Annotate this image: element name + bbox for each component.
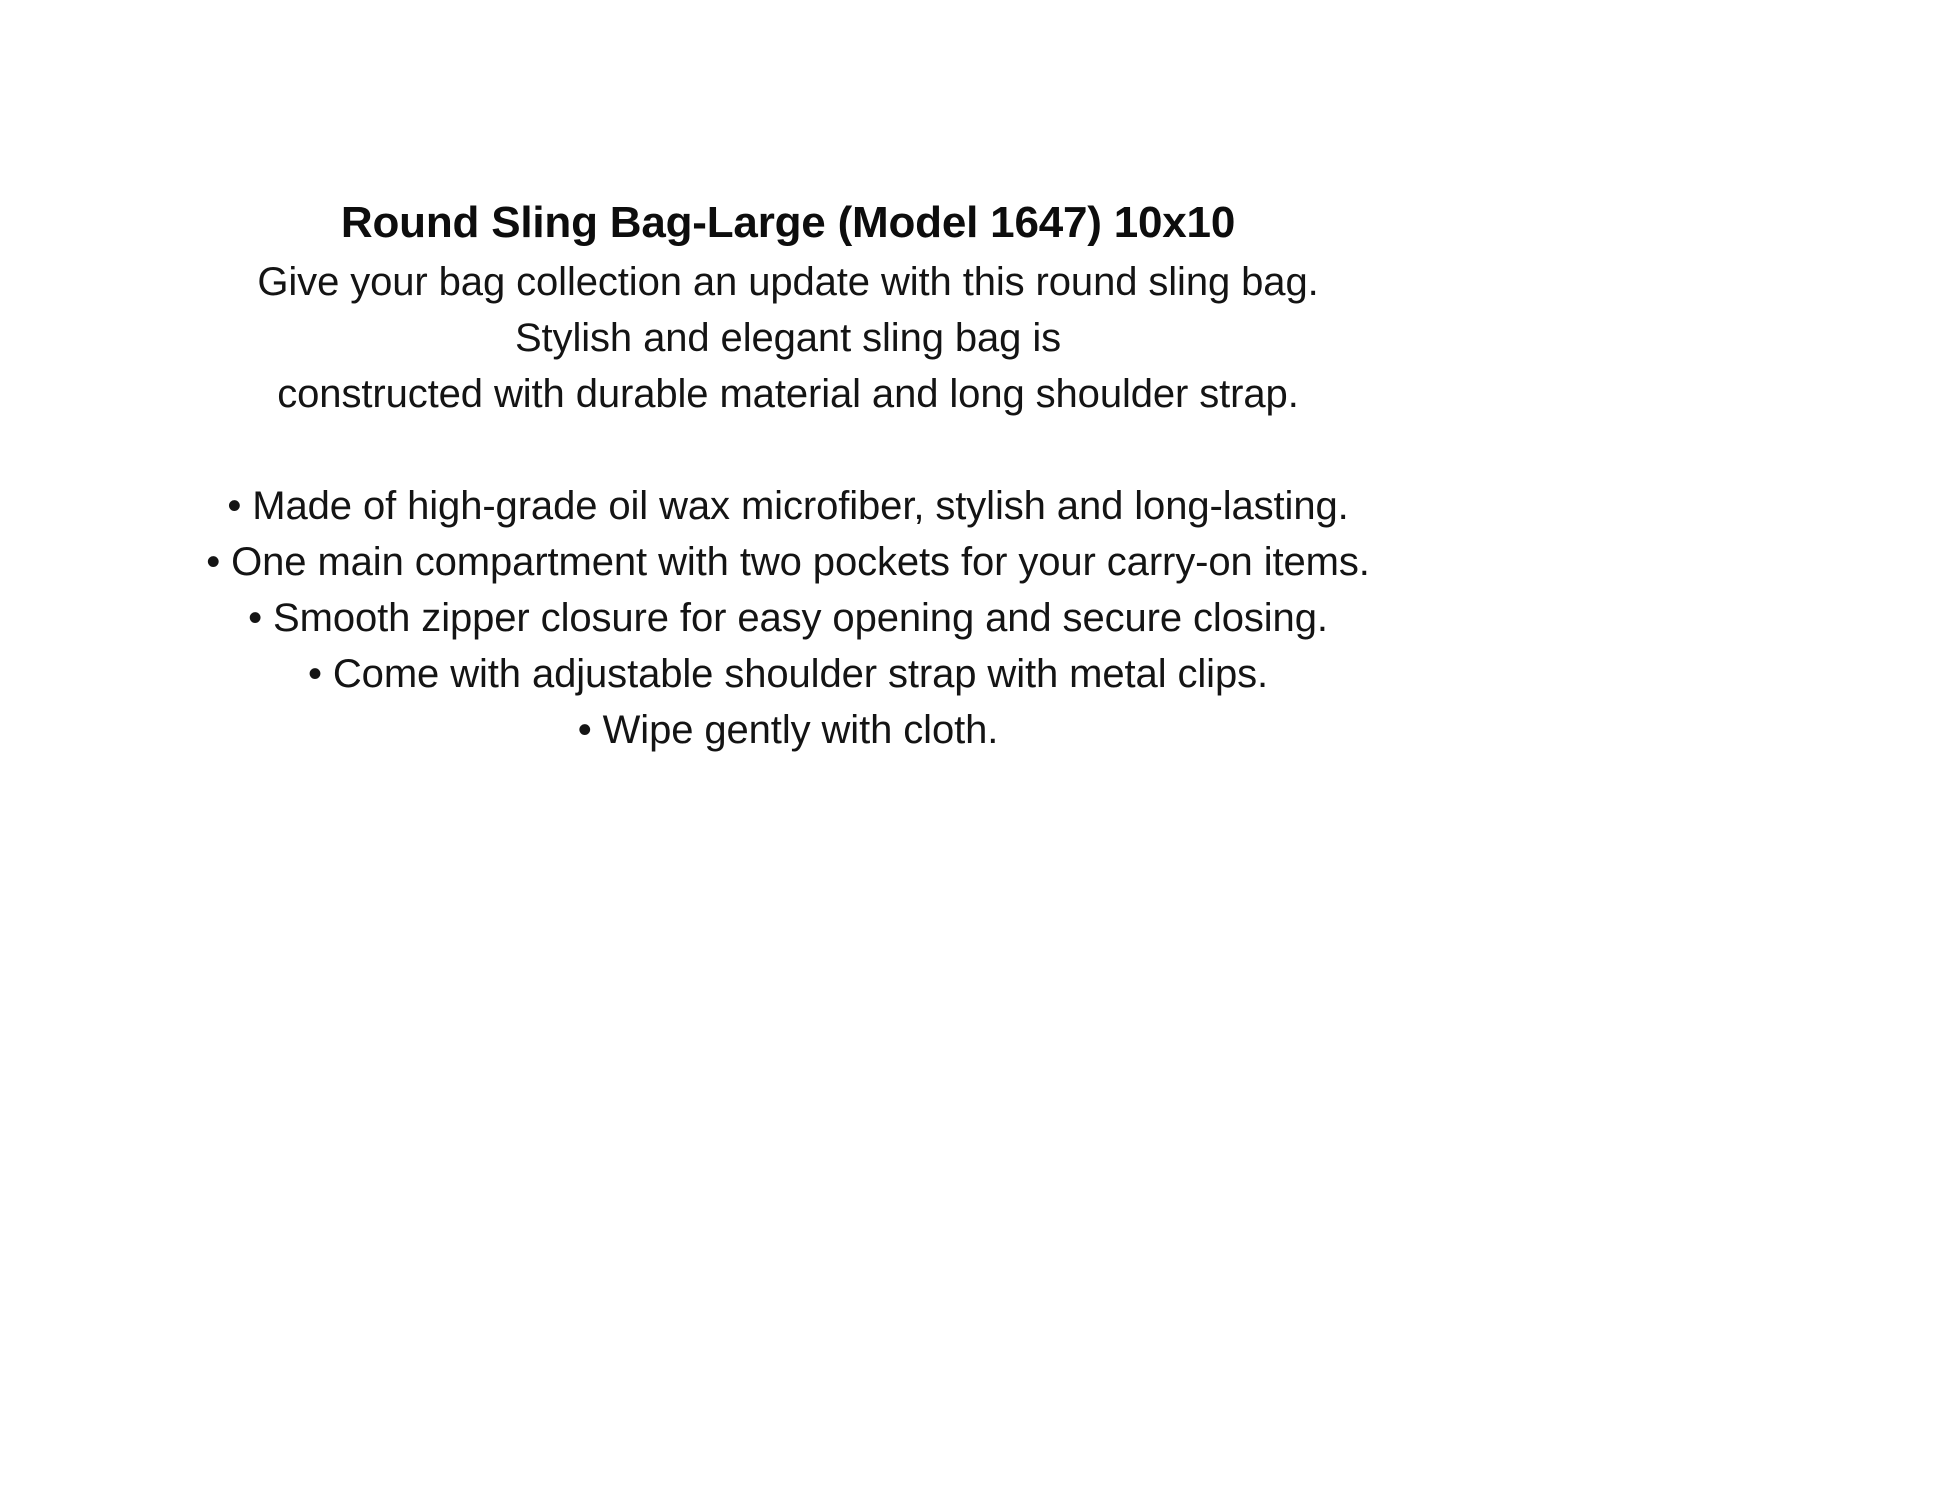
paragraph-spacer bbox=[160, 422, 1416, 478]
feature-bullet-list: • Made of high-grade oil wax microfiber,… bbox=[160, 478, 1416, 758]
list-item: • Made of high-grade oil wax microfiber,… bbox=[160, 478, 1416, 534]
product-description-block: Round Sling Bag-Large (Model 1647) 10x10… bbox=[160, 196, 1416, 758]
list-item: • One main compartment with two pockets … bbox=[160, 534, 1416, 590]
page-title: Round Sling Bag-Large (Model 1647) 10x10 bbox=[160, 196, 1416, 250]
list-item-label: Wipe gently with cloth. bbox=[603, 708, 999, 752]
list-item: • Smooth zipper closure for easy opening… bbox=[160, 590, 1416, 646]
intro-line-1: Give your bag collection an update with … bbox=[160, 254, 1416, 310]
intro-line-2: Stylish and elegant sling bag is bbox=[160, 310, 1416, 366]
list-item-label: Smooth zipper closure for easy opening a… bbox=[273, 596, 1328, 640]
bullet-dot-icon: • bbox=[248, 596, 262, 640]
list-item-label: One main compartment with two pockets fo… bbox=[231, 540, 1370, 584]
bullet-dot-icon: • bbox=[227, 484, 241, 528]
list-item: • Come with adjustable shoulder strap wi… bbox=[160, 646, 1416, 702]
document-page: Round Sling Bag-Large (Model 1647) 10x10… bbox=[0, 0, 1946, 1503]
list-item: • Wipe gently with cloth. bbox=[160, 702, 1416, 758]
intro-line-3: constructed with durable material and lo… bbox=[160, 366, 1416, 422]
intro-paragraph: Give your bag collection an update with … bbox=[160, 254, 1416, 422]
list-item-label: Come with adjustable shoulder strap with… bbox=[333, 652, 1268, 696]
bullet-dot-icon: • bbox=[206, 540, 220, 584]
bullet-dot-icon: • bbox=[308, 652, 322, 696]
bullet-dot-icon: • bbox=[578, 708, 592, 752]
list-item-label: Made of high-grade oil wax microfiber, s… bbox=[252, 484, 1348, 528]
